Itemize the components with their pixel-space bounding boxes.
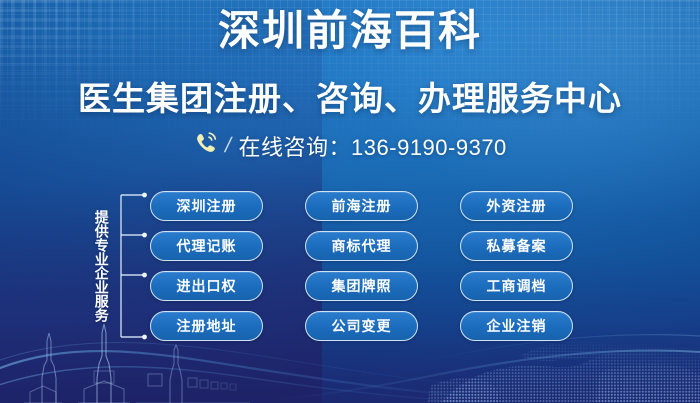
page-title: 深圳前海百科: [0, 6, 700, 56]
service-chip-registered-address[interactable]: 注册地址: [150, 311, 263, 341]
service-chip-grid: 深圳注册 前海注册 外资注册 代理记账 商标代理 私募备案 进出口权 集团牌照 …: [150, 191, 573, 341]
promo-banner: 深圳前海百科 医生集团注册、咨询、办理服务中心 / 在线咨询：136-9190-…: [0, 0, 700, 403]
service-chip-foreign-register[interactable]: 外资注册: [460, 191, 573, 221]
service-chip-qianhai-register[interactable]: 前海注册: [305, 191, 418, 221]
service-chip-trademark-agency[interactable]: 商标代理: [305, 231, 418, 261]
connector-bracket-icon: [116, 188, 150, 344]
service-chip-business-archive[interactable]: 工商调档: [460, 271, 573, 301]
services-vertical-label: 提供专业企业服务: [86, 188, 116, 344]
separator-slash: /: [223, 134, 234, 158]
phone-ringing-icon: [193, 130, 219, 162]
contact-line: / 在线咨询：136-9190-9370: [0, 130, 700, 162]
service-chip-deregistration[interactable]: 企业注销: [460, 311, 573, 341]
service-chip-import-export[interactable]: 进出口权: [150, 271, 263, 301]
page-subtitle: 医生集团注册、咨询、办理服务中心: [0, 79, 700, 119]
service-chip-fund-filing[interactable]: 私募备案: [460, 231, 573, 261]
service-chip-company-change[interactable]: 公司变更: [305, 311, 418, 341]
service-chip-group-license[interactable]: 集团牌照: [305, 271, 418, 301]
contact-phone-text: 在线咨询：136-9190-9370: [239, 130, 507, 162]
services-section: 提供专业企业服务 深圳注册 前海注册 外资注册 代理记账 商标代理 私募备案: [86, 188, 573, 344]
service-chip-bookkeeping[interactable]: 代理记账: [150, 231, 263, 261]
service-chip-shenzhen-register[interactable]: 深圳注册: [150, 191, 263, 221]
